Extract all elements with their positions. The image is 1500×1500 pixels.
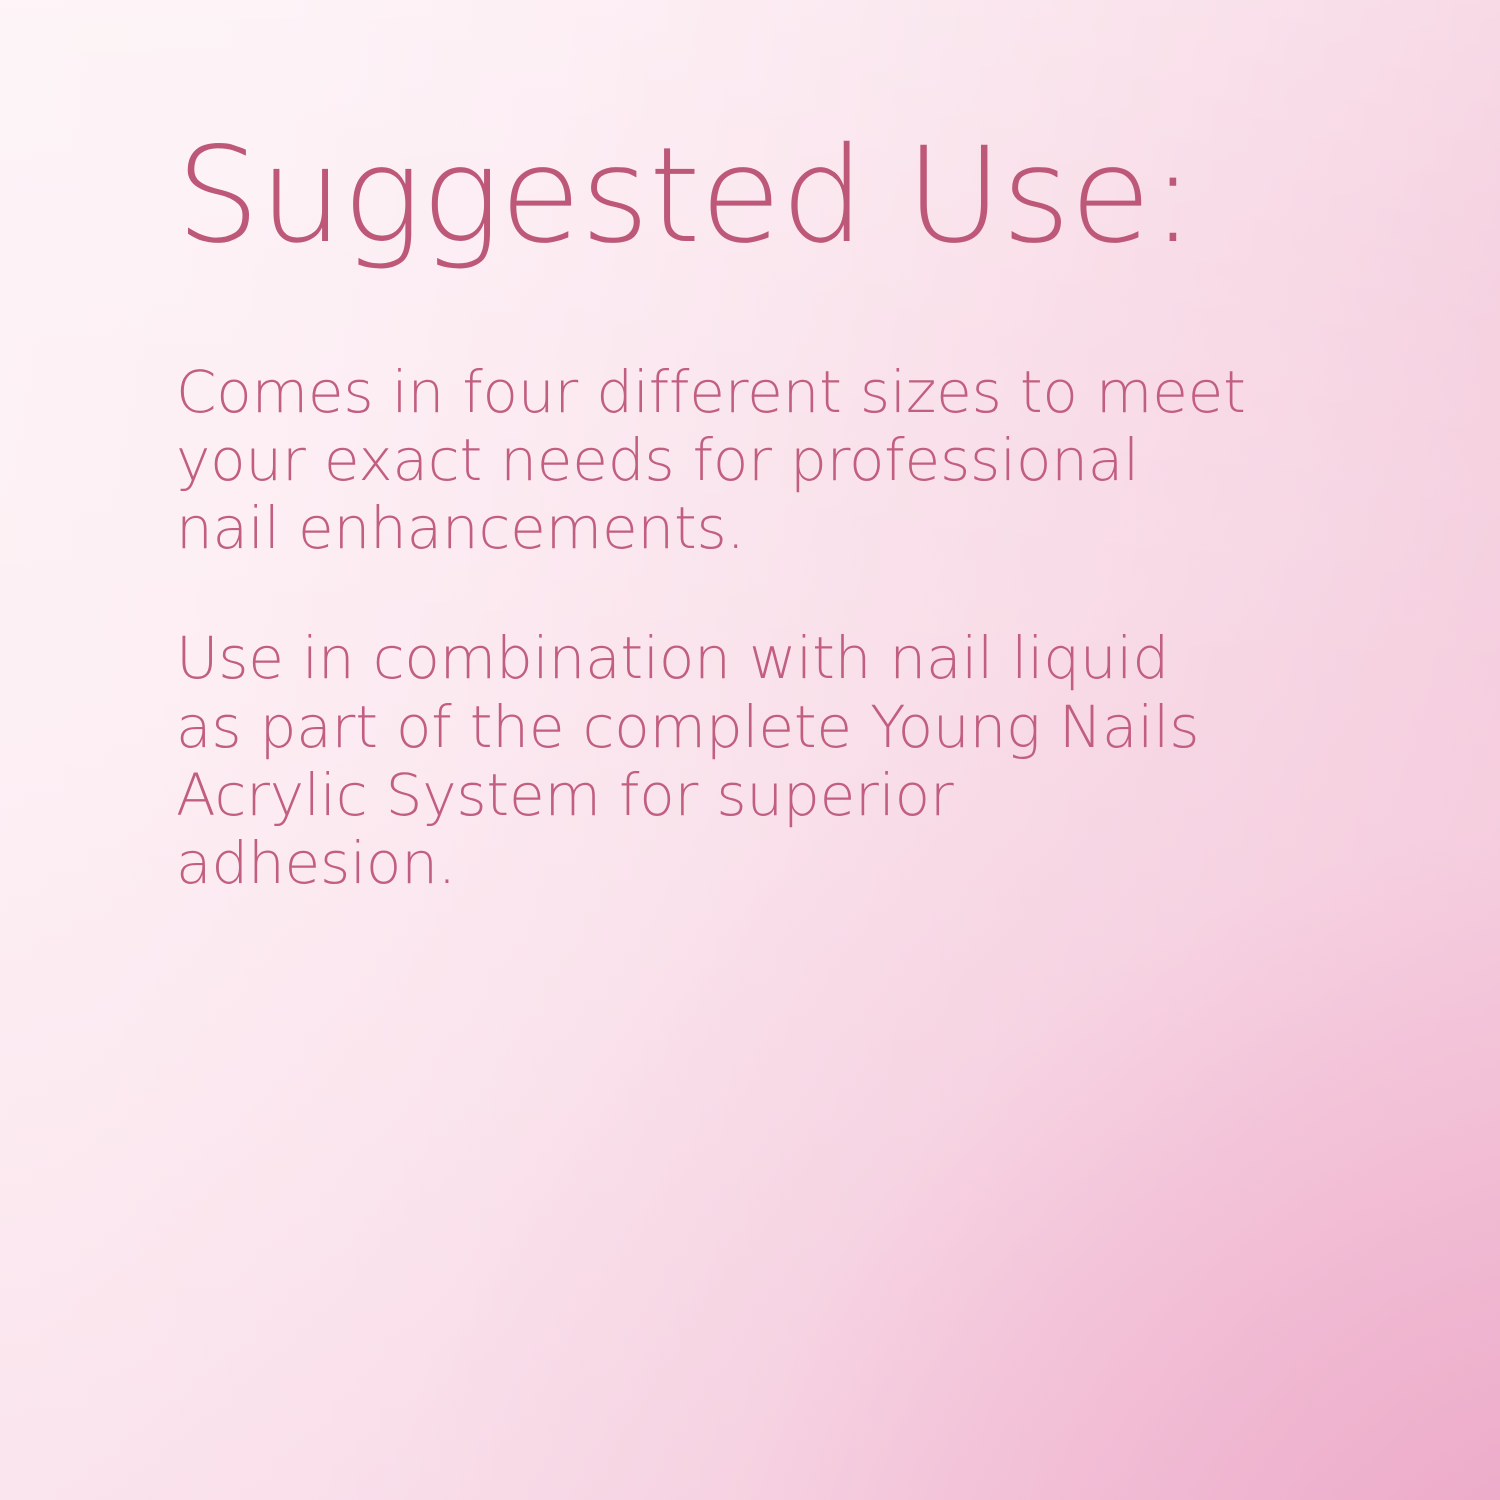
product-info-card: Suggested Use: Comes in four different s… [0,0,1500,1500]
page-title: Suggested Use: [176,0,1248,262]
description-paragraph-sizes: Comes in four different sizes to meet yo… [176,358,1248,562]
content-column: Suggested Use: Comes in four different s… [176,0,1248,897]
description-paragraph-usage: Use in combination with nail liquid as p… [176,624,1248,897]
description-block: Comes in four different sizes to meet yo… [176,358,1248,897]
